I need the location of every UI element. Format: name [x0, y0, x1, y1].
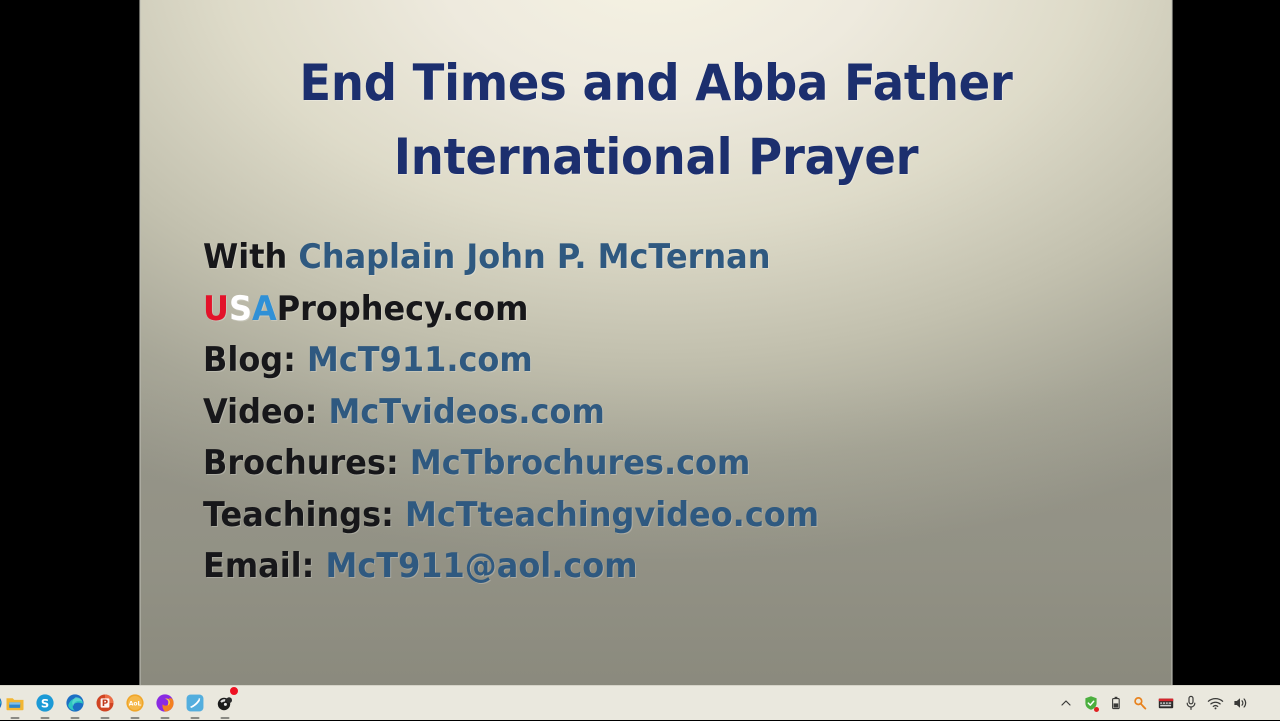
tray-alert-dot — [1094, 707, 1099, 712]
tray-safely-remove[interactable] — [1103, 686, 1128, 721]
blog-line: Blog: McT911.com — [203, 335, 819, 387]
key-icon — [1133, 696, 1148, 711]
keyboard-icon — [1158, 697, 1174, 710]
slide-edge-right — [1171, 0, 1173, 685]
presentation-slide: End Times and Abba Father International … — [140, 0, 1172, 685]
blog-line-seg-0: Blog: — [203, 340, 307, 380]
slide-title-line-1: End Times and Abba Father — [176, 46, 1136, 120]
site-line: USAProphecy.com — [203, 284, 819, 336]
brochures-line-seg-1: McTbrochures.com — [410, 443, 750, 483]
tray-microphone[interactable] — [1178, 686, 1203, 721]
svg-text:S: S — [41, 696, 49, 710]
tray-show-hidden-icons[interactable] — [1053, 686, 1078, 721]
taskbar-app-firefox[interactable] — [150, 686, 180, 721]
taskbar-app-media[interactable] — [210, 686, 240, 721]
edge-icon — [65, 693, 85, 713]
usb-eject-icon — [1109, 696, 1123, 711]
teachings-line-seg-0: Teachings: — [203, 495, 405, 535]
microphone-icon — [1184, 695, 1198, 711]
site-line-seg-0: U — [203, 289, 229, 329]
taskbar-app-skype[interactable]: S — [30, 686, 60, 721]
site-line-seg-3: Prophecy.com — [277, 289, 529, 329]
teachings-line: Teachings: McTteachingvideo.com — [203, 490, 819, 542]
slide-body: With Chaplain John P. McTernanUSAProphec… — [203, 232, 858, 593]
brochures-line-seg-0: Brochures: — [203, 443, 410, 483]
email-line-seg-0: Email: — [203, 546, 326, 586]
tray-key[interactable] — [1128, 686, 1153, 721]
video-stage: End Times and Abba Father International … — [0, 0, 1280, 685]
email-line-seg-1: McT911@aol.com — [326, 546, 638, 586]
taskbar-app-list[interactable]: SPAoL — [0, 686, 240, 720]
video-line: Video: McTvideos.com — [203, 387, 819, 439]
tray-volume[interactable] — [1228, 686, 1253, 721]
speaker-icon — [1233, 696, 1249, 710]
notification-badge — [229, 686, 239, 696]
firefox-icon — [155, 693, 175, 713]
brochures-line: Brochures: McTbrochures.com — [203, 438, 819, 490]
slide-title-line-2: International Prayer — [176, 120, 1136, 194]
tray-keyboard[interactable] — [1153, 686, 1178, 721]
slide-edge-left — [139, 0, 141, 685]
taskbar-app-blue-tool[interactable] — [180, 686, 210, 721]
blog-line-seg-1: McT911.com — [307, 340, 533, 380]
teachings-line-seg-1: McTteachingvideo.com — [405, 495, 819, 535]
wifi-icon — [1207, 697, 1224, 710]
chevron-up-icon — [1059, 696, 1073, 710]
email-line: Email: McT911@aol.com — [203, 541, 819, 593]
letterbox-right — [1172, 0, 1280, 685]
with-line-seg-1: Chaplain John P. McTernan — [298, 237, 770, 277]
taskbar-app-aol[interactable]: AoL — [120, 686, 150, 721]
dark-circle-icon — [215, 693, 235, 713]
tray-security-shield[interactable] — [1078, 686, 1103, 721]
letterbox-left — [0, 0, 140, 685]
svg-text:P: P — [102, 699, 108, 709]
with-line: With Chaplain John P. McTernan — [203, 232, 819, 284]
taskbar-app-file-explorer[interactable] — [0, 686, 30, 721]
site-line-seg-1: S — [229, 289, 252, 329]
with-line-seg-0: With — [203, 237, 298, 277]
powerpoint-icon: P — [95, 693, 115, 713]
video-line-seg-1: McTvideos.com — [329, 392, 605, 432]
taskbar[interactable]: SPAoL — [0, 685, 1280, 720]
slide-title: End Times and Abba Father International … — [140, 46, 1172, 194]
blue-app-icon — [185, 693, 205, 713]
aol-icon: AoL — [125, 693, 145, 713]
tray-network[interactable] — [1203, 686, 1228, 721]
svg-text:AoL: AoL — [129, 701, 142, 708]
skype-icon: S — [35, 693, 55, 713]
system-tray[interactable] — [1053, 686, 1280, 720]
taskbar-app-powerpoint[interactable]: P — [90, 686, 120, 721]
site-line-seg-2: A — [252, 289, 277, 329]
taskbar-app-edge[interactable] — [60, 686, 90, 721]
folder-icon — [5, 693, 25, 713]
video-line-seg-0: Video: — [203, 392, 329, 432]
